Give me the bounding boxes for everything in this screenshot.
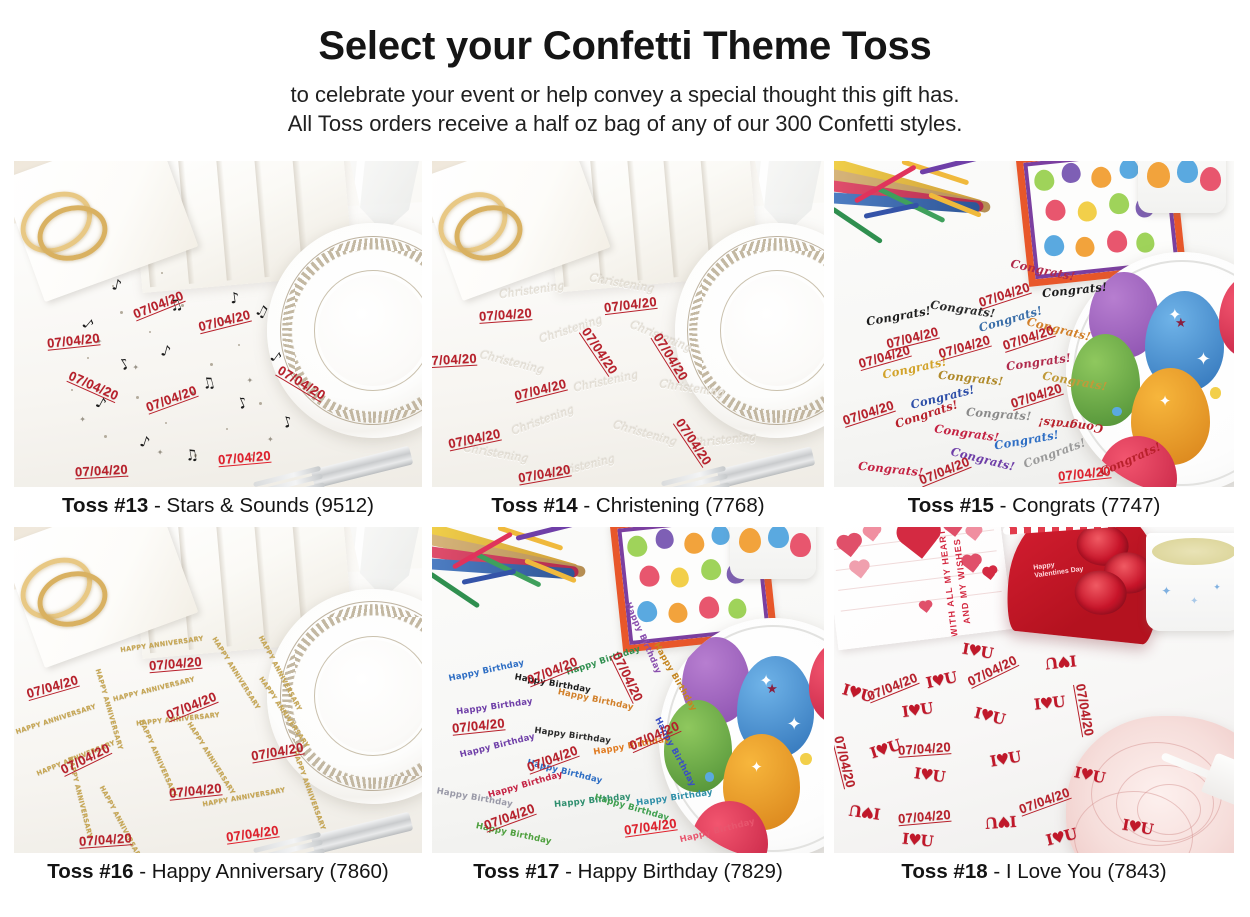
confetti-date: 07/04/20 (25, 673, 80, 701)
product-code: (7747) (1101, 494, 1160, 517)
product-name: Christening (596, 494, 700, 517)
confetti-word: I♥U (961, 641, 994, 661)
confetti-date: 07/04/20 (217, 449, 271, 468)
confetti-word: Congrats! (993, 429, 1059, 452)
confetti-word: HAPPY ANNIVERSARY (67, 756, 94, 839)
confetti-word: Congrats! (1026, 316, 1092, 343)
confetti-word: Congrats! (938, 370, 1004, 388)
confetti-word: HAPPY ANNIVERSARY (36, 739, 116, 777)
confetti-word: Happy Birthday (534, 727, 612, 746)
confetti-word: Congrats! (894, 399, 960, 430)
confetti-word: HAPPY ANNIVERSARY (210, 636, 260, 711)
confetti-layer-i-love-you: I♥U I♥U I♥U I♥U I♥U I♥U I♥U I♥U I♥U I♥U … (834, 527, 1234, 853)
product-name: Congrats (1012, 494, 1095, 517)
product-card-18[interactable]: WITH ALL MY HEARTAND MY WISHES HappyVale… (834, 527, 1234, 885)
product-code: (7843) (1107, 860, 1166, 883)
caption-dash: - (583, 494, 590, 517)
confetti-word: HAPPY ANNIVERSARY (186, 721, 236, 796)
confetti-date: 07/04/20 (834, 734, 858, 789)
caption-dash: - (993, 860, 1000, 883)
confetti-word: Happy Birthday (475, 822, 552, 847)
confetti-word: Christening (549, 453, 615, 480)
confetti-date: 07/04/20 (857, 343, 912, 371)
confetti-date: 07/04/20 (58, 741, 112, 777)
product-name: Stars & Sounds (167, 494, 309, 517)
confetti-date: 07/04/20 (79, 831, 133, 849)
confetti-word: Christening (510, 404, 575, 437)
product-card-17[interactable]: ★ ✦ ✦ ✦ Happy Birthday Happy Birthday Ha… (432, 527, 824, 885)
confetti-word: HAPPY ANNIVERSARY (120, 635, 204, 653)
confetti-date: 07/04/20 (432, 352, 478, 369)
confetti-word: Happy Birthday (679, 817, 756, 844)
confetti-date: 07/04/20 (482, 802, 537, 833)
confetti-word: Congrats! (930, 300, 996, 320)
confetti-date: 07/04/20 (517, 463, 572, 486)
confetti-date: 07/04/20 (525, 743, 580, 774)
confetti-word: Happy Birthday (566, 645, 642, 677)
subtitle-line-1: to celebrate your event or help convey a… (0, 80, 1250, 109)
product-code: (9512) (315, 494, 374, 517)
confetti-word: Happy Birthday (651, 642, 697, 713)
confetti-word: Christening (690, 431, 756, 449)
confetti-word: Happy Birthday (514, 673, 591, 695)
confetti-word: Congrats! (966, 406, 1032, 422)
confetti-word: I♥U (1045, 826, 1078, 848)
confetti-word: Happy Birthday (553, 793, 631, 810)
product-grid: HAPPY Wedding (14, 161, 1236, 884)
confetti-date: 07/04/20 (250, 741, 305, 764)
confetti-word: Congrats! (858, 461, 924, 479)
confetti-word: Christening (588, 273, 655, 295)
confetti-word: Congrats! (1006, 352, 1072, 372)
confetti-word: Happy Birthday (652, 717, 696, 789)
confetti-word: I♥U (986, 812, 1018, 829)
confetti-word: Happy Birthday (436, 787, 513, 809)
confetti-word: Congrats! (950, 447, 1016, 474)
confetti-word: I♥U (868, 737, 902, 761)
confetti-date: 07/04/20 (623, 816, 677, 837)
product-toss-number: Toss #17 (473, 860, 559, 883)
product-card-14[interactable]: HAPPY Wedding Christening Christening Ch… (432, 161, 824, 519)
product-photo-i-love-you[interactable]: WITH ALL MY HEARTAND MY WISHES HappyVale… (834, 527, 1234, 853)
confetti-date: 07/04/20 (75, 463, 129, 480)
product-caption: Toss #17 - Happy Birthday (7829) (432, 853, 824, 885)
confetti-date: 07/04/20 (627, 719, 681, 753)
product-toss-number: Toss #13 (62, 494, 148, 517)
confetti-date: 07/04/20 (937, 333, 992, 361)
confetti-word: I♥U (973, 706, 1006, 728)
confetti-word: HAPPY ANNIVERSARY (15, 703, 97, 735)
product-photo-christening[interactable]: HAPPY Wedding Christening Christening Ch… (432, 161, 824, 487)
confetti-date: 07/04/20 (841, 398, 896, 428)
confetti-layer-stars-sounds: ✦ ✦ ✦ ✦ ✦ ✦ ✦ ✦ ♪ ♫ ♪ ♪ ♫ ♪ ♪ ♫ ♪ (14, 161, 422, 487)
confetti-word: Congrats! (1098, 442, 1162, 479)
caption-dash: - (154, 494, 161, 517)
confetti-date: 07/04/20 (513, 376, 568, 402)
confetti-date: 07/04/20 (1009, 381, 1064, 411)
page-title: Select your Confetti Theme Toss (0, 0, 1250, 66)
confetti-word: HAPPY ANNIVERSARY (202, 787, 286, 808)
confetti-word: HAPPY ANNIVERSARY (136, 711, 220, 727)
confetti-word: Christening (498, 280, 564, 300)
confetti-date: 07/04/20 (451, 716, 505, 735)
confetti-date: 07/04/20 (885, 324, 940, 350)
confetti-word: Happy Birthday (448, 659, 525, 684)
confetti-word: Congrats! (1041, 371, 1107, 394)
confetti-date: 07/04/20 (148, 655, 202, 674)
confetti-date: 07/04/20 (898, 740, 952, 758)
confetti-word: HAPPY ANNIVERSARY (258, 635, 303, 712)
confetti-word: I♥U (901, 701, 933, 720)
confetti-date: 07/04/20 (66, 369, 120, 403)
confetti-date: 07/04/20 (604, 295, 658, 315)
confetti-word: HAPPY ANNIVERSARY (291, 750, 326, 831)
confetti-date: 07/04/20 (917, 455, 971, 487)
confetti-date: 07/04/20 (1057, 465, 1111, 484)
confetti-word: Christening (659, 378, 725, 398)
confetti-date: 07/04/20 (897, 808, 951, 827)
product-caption: Toss #16 - Happy Anniversary (7860) (14, 853, 422, 885)
confetti-date: 07/04/20 (132, 288, 186, 321)
subtitle-line-2: All Toss orders receive a half oz bag of… (0, 109, 1250, 138)
product-caption: Toss #18 - I Love You (7843) (834, 853, 1234, 885)
confetti-word: I♥U (841, 682, 874, 705)
confetti-date: 07/04/20 (164, 690, 218, 723)
product-photo-happy-birthday[interactable]: ★ ✦ ✦ ✦ Happy Birthday Happy Birthday Ha… (432, 527, 824, 853)
product-caption: Toss #14 - Christening (7768) (432, 487, 824, 519)
confetti-word: Congrats! (1010, 259, 1076, 284)
confetti-date: 07/04/20 (1001, 323, 1056, 353)
confetti-word: I♥U (1121, 817, 1154, 837)
confetti-date: 07/04/20 (1017, 785, 1072, 816)
product-photo-congrats[interactable]: ★ ✦ ✦ ✦ Congrats! Congrats! Congrats! Co… (834, 161, 1234, 487)
confetti-word: I♥U (849, 802, 881, 821)
product-toss-number: Toss #18 (901, 860, 987, 883)
confetti-word: Christening (573, 369, 639, 393)
confetti-word: Congrats! (865, 305, 931, 328)
caption-dash: - (1000, 494, 1007, 517)
product-code: (7829) (724, 860, 783, 883)
product-card-15[interactable]: ★ ✦ ✦ ✦ Congrats! Congrats! Congrats! Co… (834, 161, 1234, 519)
confetti-word: Congrats! (1038, 415, 1104, 433)
confetti-word: HAPPY ANNIVERSARY (138, 718, 178, 797)
confetti-date: 07/04/20 (525, 654, 579, 687)
confetti-word: Congrats! (910, 385, 976, 412)
confetti-word: Happy Birthday (557, 688, 634, 713)
confetti-layer-christening: Christening Christening Christening Chri… (432, 161, 824, 487)
confetti-date: 07/04/20 (46, 331, 100, 350)
confetti-word: Happy Birthday (455, 697, 533, 716)
confetti-date: 07/04/20 (609, 650, 645, 704)
product-caption: Toss #15 - Congrats (7747) (834, 487, 1234, 519)
product-code: (7768) (705, 494, 764, 517)
confetti-date: 07/04/20 (673, 416, 714, 468)
confetti-word: I♥U (1045, 652, 1077, 670)
caption-dash: - (565, 860, 572, 883)
confetti-date: 07/04/20 (579, 325, 620, 377)
confetti-date: 07/04/20 (447, 426, 502, 451)
page-subtitle: to celebrate your event or help convey a… (0, 66, 1250, 138)
confetti-word: Christening (463, 442, 530, 464)
confetti-word: Happy Birthday (636, 789, 714, 808)
confetti-word: Congrats! (882, 356, 948, 381)
confetti-word: Congrats! (1042, 281, 1108, 299)
confetti-word: Christening (628, 319, 693, 354)
product-toss-number: Toss #15 (908, 494, 994, 517)
confetti-word: Congrats! (934, 424, 1000, 444)
confetti-date: 07/04/20 (966, 653, 1020, 689)
product-name: Happy Birthday (578, 860, 718, 883)
confetti-word: Christening (538, 314, 604, 345)
confetti-word: Congrats! (978, 305, 1044, 334)
product-name: Happy Anniversary (152, 860, 324, 883)
confetti-word: HAPPY ANNIVERSARY (112, 676, 195, 703)
confetti-word: HAPPY ANNIVERSARY (94, 668, 124, 751)
confetti-date: 07/04/20 (479, 306, 533, 324)
confetti-date: 07/04/20 (650, 331, 690, 383)
confetti-word: HAPPY ANNIVERSARY (99, 785, 144, 853)
confetti-word: Happy Birthday (593, 793, 670, 823)
product-toss-number: Toss #16 (47, 860, 133, 883)
confetti-layer-congrats: Congrats! Congrats! Congrats! Congrats! … (834, 161, 1234, 487)
poster-page: Select your Confetti Theme Toss to celeb… (0, 0, 1250, 917)
product-code: (7860) (329, 860, 388, 883)
confetti-layer-birthday: Happy Birthday Happy Birthday Happy Birt… (432, 527, 824, 853)
caption-dash: - (139, 860, 146, 883)
product-photo-stars-and-sounds[interactable]: HAPPY Wedding (14, 161, 422, 487)
confetti-layer-anniversary: HAPPY ANNIVERSARY HAPPY ANNIVERSARY HAPP… (14, 527, 422, 853)
confetti-word: Congrats! (1022, 437, 1087, 470)
confetti-word: HAPPY ANNIVERSARY (258, 676, 311, 749)
confetti-word: I♥U (1073, 765, 1106, 786)
confetti-word: Happy Birthday (593, 735, 670, 757)
confetti-date: 07/04/20 (225, 823, 279, 844)
confetti-date: 07/04/20 (1073, 682, 1096, 737)
product-card-16[interactable]: HAPPY Wedding HAPPY ANNIVERSARY HAPPY AN… (14, 527, 422, 885)
product-name: I Love You (1006, 860, 1102, 883)
confetti-word: I♥U (925, 670, 958, 691)
confetti-date: 07/04/20 (275, 364, 328, 403)
product-photo-happy-anniversary[interactable]: HAPPY Wedding HAPPY ANNIVERSARY HAPPY AN… (14, 527, 422, 853)
confetti-word: Happy Birthday (487, 770, 564, 800)
confetti-date: 07/04/20 (977, 280, 1032, 310)
confetti-word: I♥U (901, 832, 933, 850)
confetti-word: Happy Birthday (460, 733, 537, 760)
product-caption: Toss #13 - Stars & Sounds (9512) (14, 487, 422, 519)
confetti-date: 07/04/20 (168, 781, 222, 800)
confetti-word: Happy Birthday (623, 602, 662, 676)
product-toss-number: Toss #14 (491, 494, 577, 517)
confetti-word: Happy Birthday (526, 759, 603, 786)
product-card-13[interactable]: HAPPY Wedding (14, 161, 422, 519)
confetti-date: 07/04/20 (865, 670, 919, 703)
confetti-word: I♥U (1033, 695, 1065, 713)
confetti-word: I♥U (913, 766, 945, 785)
confetti-word: Christening (479, 349, 545, 376)
confetti-word: Christening (612, 419, 678, 448)
confetti-word: I♥U (989, 749, 1022, 769)
